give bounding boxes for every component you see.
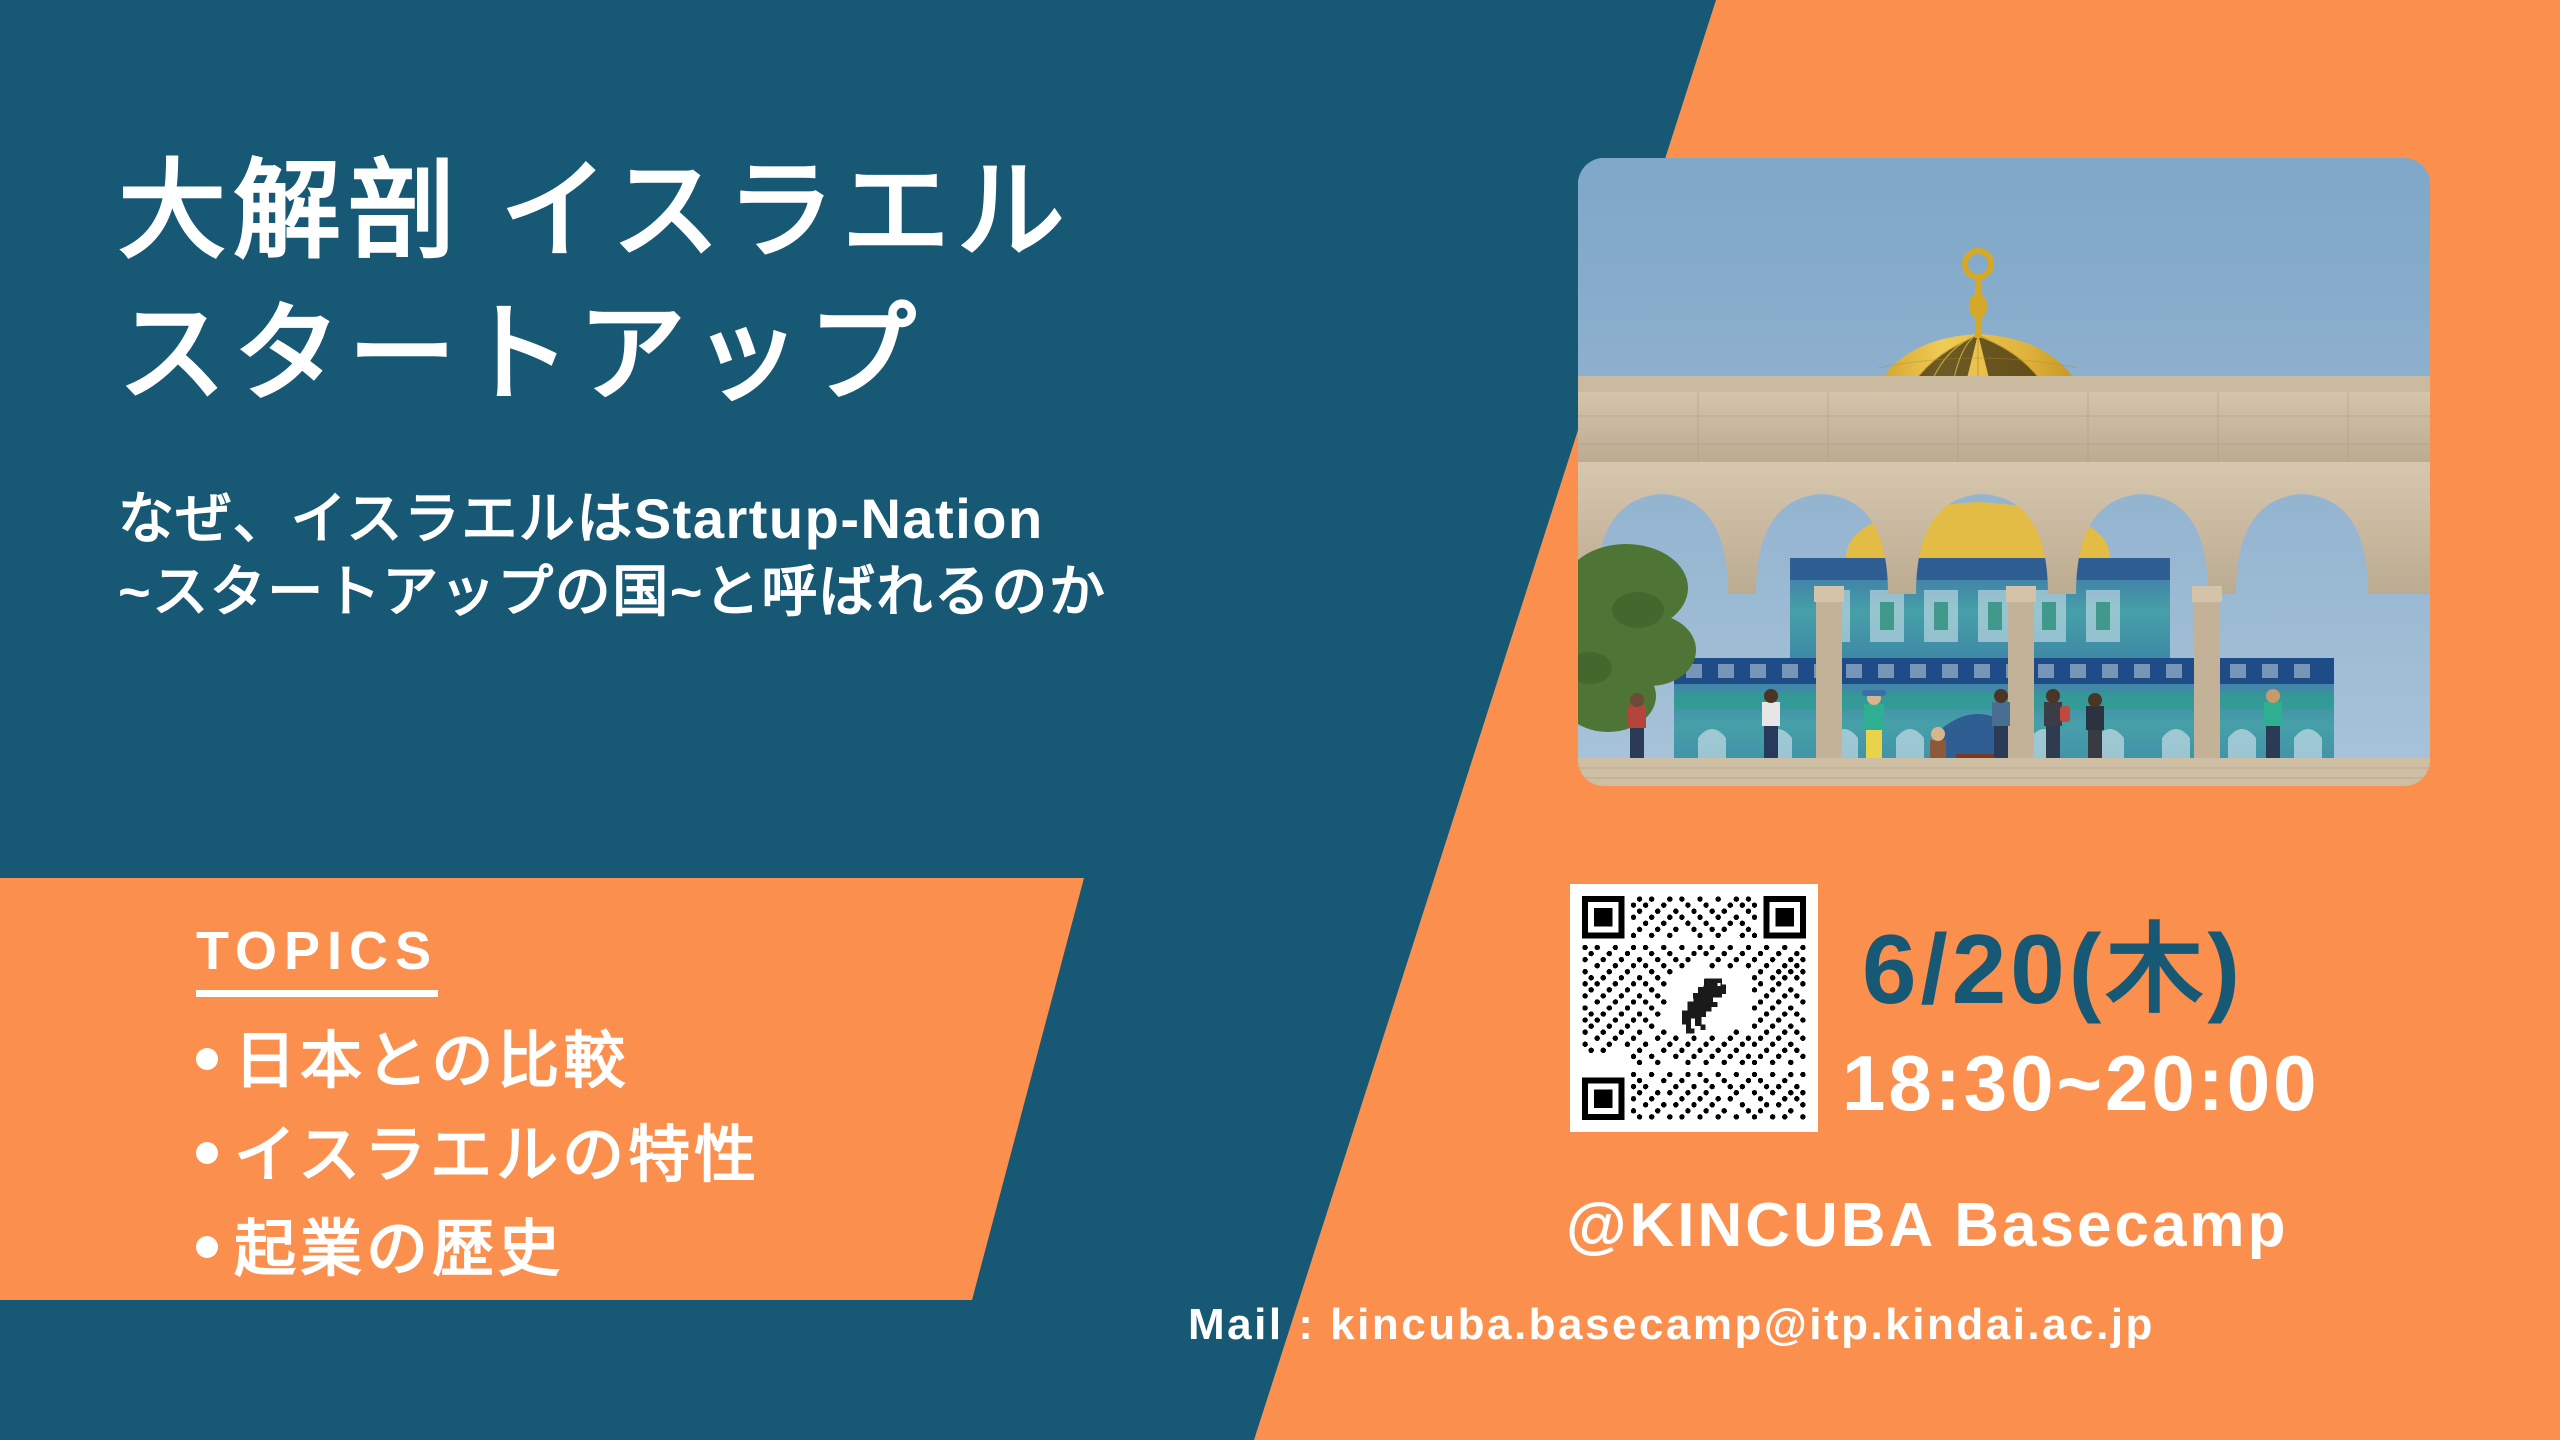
event-date: 6/20(木)	[1862, 890, 2244, 1032]
headline-block: 大解剖 イスラエル スタートアップ なぜ、イスラエルはStartup-Natio…	[118, 140, 1538, 629]
topics-heading: TOPICS	[196, 920, 438, 997]
event-poster: 大解剖 イスラエル スタートアップ なぜ、イスラエルはStartup-Natio…	[0, 0, 2560, 1440]
contact-email: Mail : kincuba.basecamp@itp.kindai.ac.jp	[1188, 1300, 2155, 1350]
qr-code-graphic	[1570, 884, 1818, 1132]
list-item: 日本との比較	[196, 1015, 1096, 1109]
event-time: 18:30~20:00	[1842, 1038, 2320, 1129]
bullet-icon	[196, 1236, 218, 1258]
topics-section: TOPICS 日本との比較 イスラエルの特性 起業の歴史	[196, 920, 1096, 1298]
topic-label: 日本との比較	[234, 1027, 629, 1096]
poster-subtitle-line-2: ~スタートアップの国~と呼ばれるのか	[118, 556, 1538, 629]
poster-subtitle-line-1: なぜ、イスラエルはStartup-Nation	[118, 483, 1538, 556]
list-item: イスラエルの特性	[196, 1109, 1096, 1203]
event-venue: @KINCUBA Basecamp	[1566, 1190, 2288, 1261]
topics-list: 日本との比較 イスラエルの特性 起業の歴史	[196, 1015, 1096, 1298]
topic-label: 起業の歴史	[234, 1215, 564, 1284]
poster-title-line-2: スタートアップ	[118, 283, 1538, 426]
topic-label: イスラエルの特性	[234, 1121, 760, 1190]
bullet-icon	[196, 1142, 218, 1164]
list-item: 起業の歴史	[196, 1203, 1096, 1297]
bullet-icon	[196, 1048, 218, 1070]
poster-title-line-1: 大解剖 イスラエル	[118, 140, 1538, 283]
qr-code[interactable]	[1570, 884, 1818, 1132]
photo-illustration	[1578, 158, 2430, 786]
poster-subtitle-block: なぜ、イスラエルはStartup-Nation ~スタートアップの国~と呼ばれる…	[118, 483, 1538, 629]
dome-of-the-rock-photo	[1578, 158, 2430, 786]
